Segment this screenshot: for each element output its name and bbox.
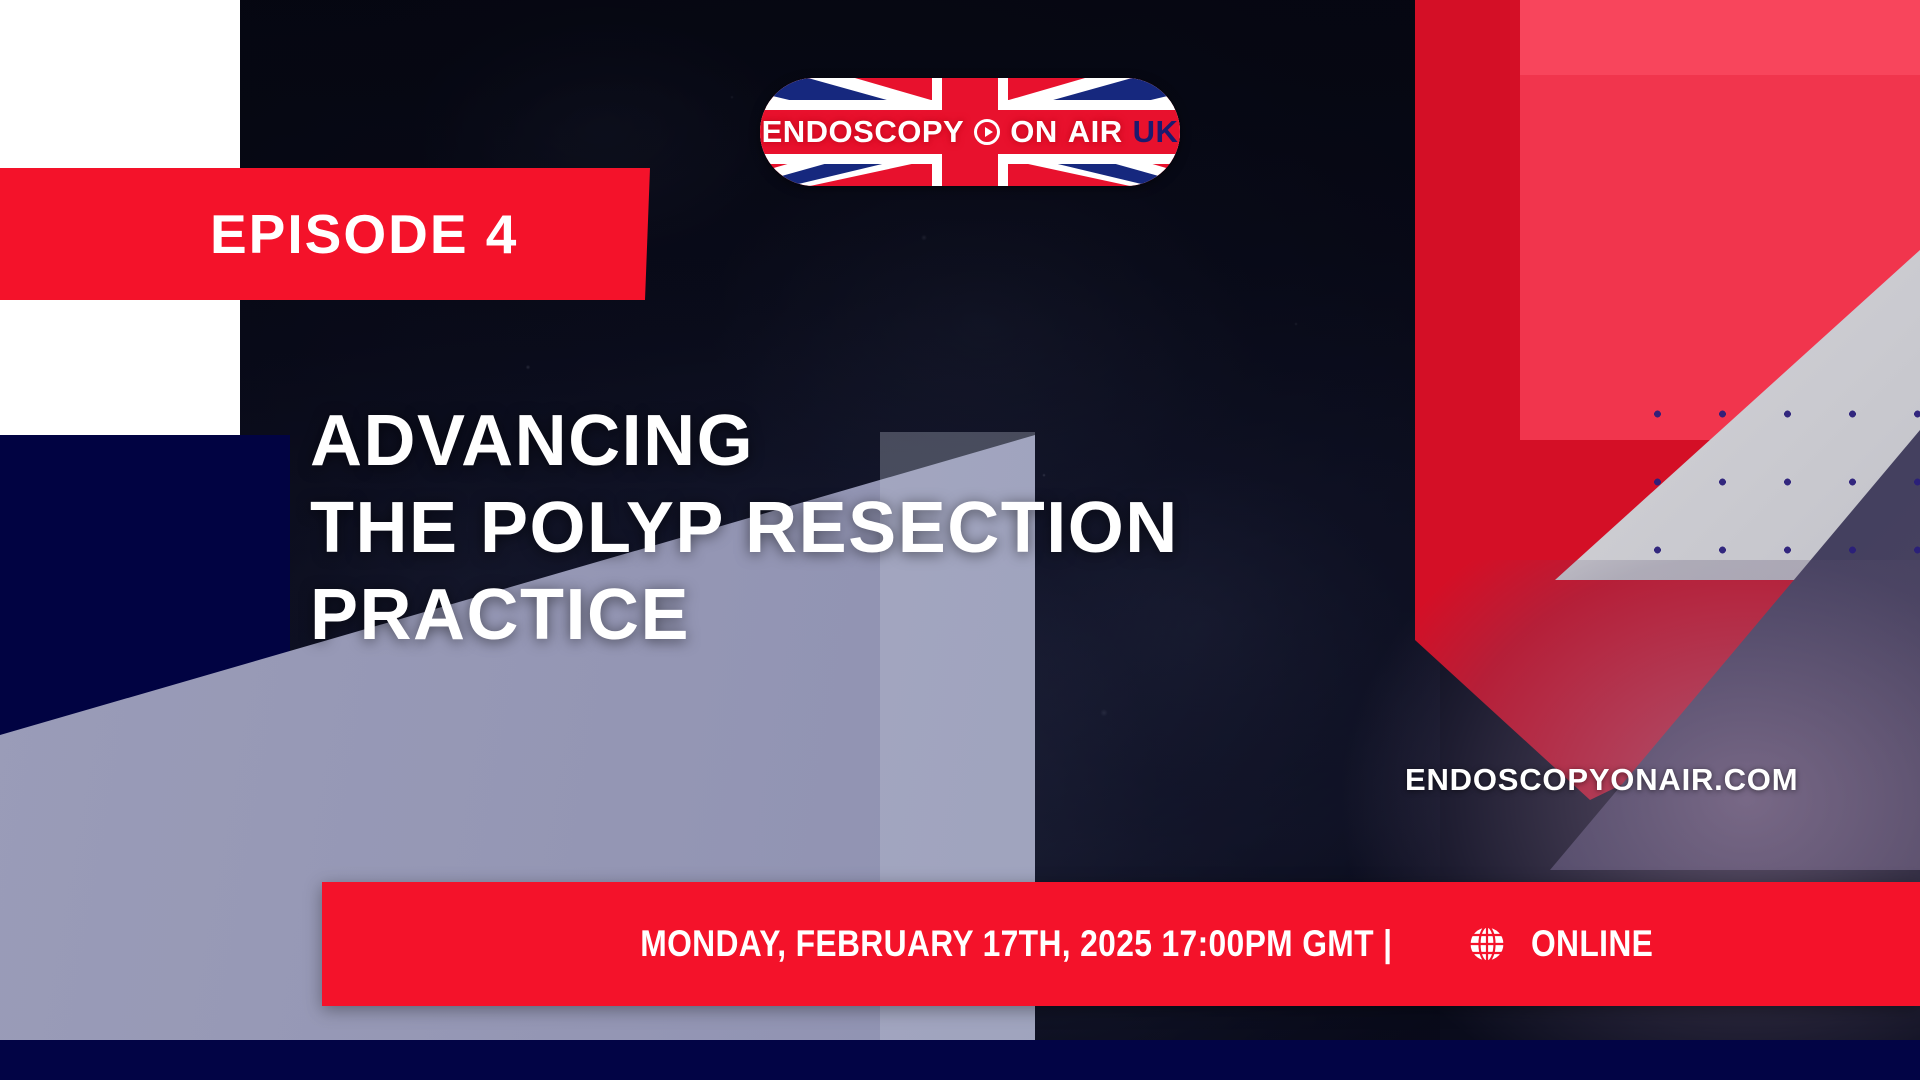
logo-word-uk: UK bbox=[1133, 114, 1179, 150]
dot-grid-pattern bbox=[1625, 380, 1920, 580]
schedule-banner: MONDAY, FEBRUARY 17TH, 2025 17:00PM GMT … bbox=[322, 882, 1920, 1006]
title-line-3: PRACTICE bbox=[310, 572, 1430, 659]
white-block-middle bbox=[0, 300, 240, 435]
logo-word-air: AIR bbox=[1068, 114, 1123, 150]
website-url[interactable]: ENDOSCOPYONAIR.COM bbox=[1405, 762, 1798, 798]
schedule-datetime: MONDAY, FEBRUARY 17TH, 2025 17:00PM GMT … bbox=[640, 923, 1392, 965]
schedule-location: ONLINE bbox=[1531, 923, 1653, 965]
title-line-2: THE POLYP RESECTION bbox=[310, 485, 1430, 572]
navy-bottom-strip bbox=[0, 1040, 1920, 1080]
title-line-1: ADVANCING bbox=[310, 398, 1430, 485]
logo-word-on: ON bbox=[1010, 114, 1058, 150]
episode-banner: EPISODE 4 bbox=[0, 168, 650, 300]
logo-wordmark: ENDOSCOPY ON AIR UK bbox=[760, 78, 1180, 186]
white-block-top bbox=[0, 0, 240, 168]
episode-label: EPISODE 4 bbox=[210, 202, 518, 266]
globe-icon bbox=[1467, 924, 1507, 964]
webinar-promo-banner: EPISODE 4 ENDOSCOPY ON AIR UK ADVANCING bbox=[0, 0, 1920, 1080]
red-panel-highlight-strip bbox=[1520, 0, 1920, 75]
endoscopy-on-air-uk-logo[interactable]: ENDOSCOPY ON AIR UK bbox=[760, 78, 1180, 186]
play-circle-icon bbox=[974, 119, 1000, 145]
page-title: ADVANCING THE POLYP RESECTION PRACTICE bbox=[310, 398, 1430, 659]
logo-word-endoscopy: ENDOSCOPY bbox=[762, 114, 965, 150]
